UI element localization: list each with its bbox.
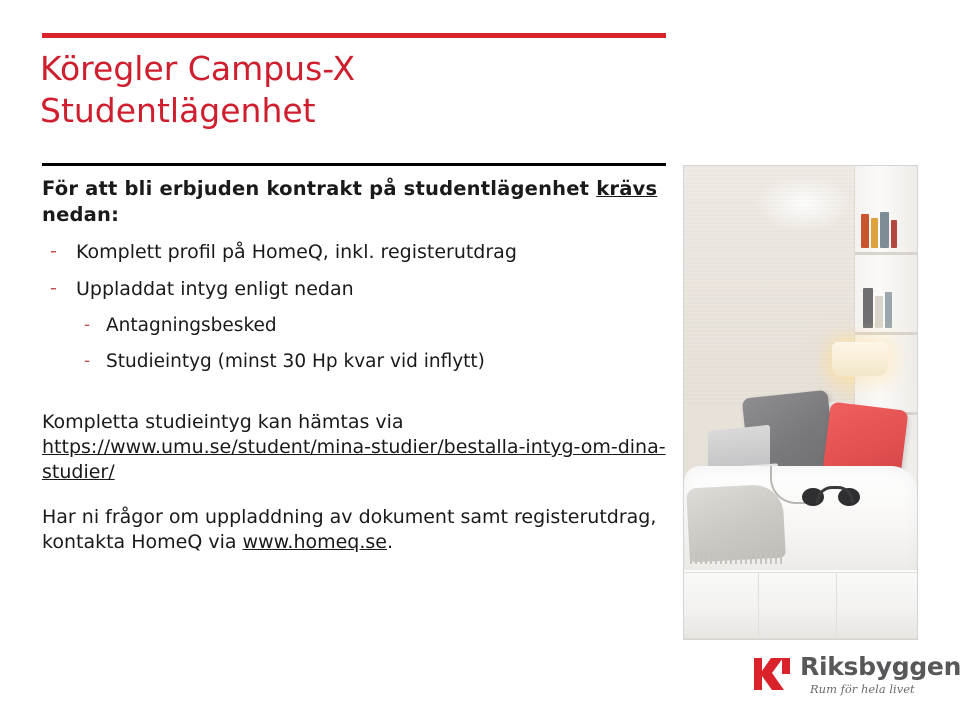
throw-fringe (690, 552, 782, 564)
umu-intyg-link[interactable]: https://www.umu.se/student/mina-studier/… (42, 436, 666, 483)
riksbyggen-mark-icon (752, 654, 792, 694)
bed-base-bench (684, 570, 917, 638)
kontakt-paragraph: Har ni frågor om uppladdning av dokument… (42, 505, 672, 555)
headphones-icon (802, 484, 860, 506)
studieintyg-paragraph: Kompletta studieintyg kan hämtas via htt… (42, 410, 672, 485)
lead-text-before: För att bli erbjuden kontrakt på student… (42, 177, 596, 200)
book (885, 292, 892, 328)
title-divider-rule (42, 163, 666, 166)
top-accent-rule (42, 33, 666, 38)
sub-requirements-list: - Antagningsbesked - Studieintyg (minst … (76, 314, 672, 374)
spacer (42, 374, 672, 410)
bench-edge (684, 572, 917, 573)
dash-bullet-icon: - (84, 349, 90, 373)
list-item-label: Komplett profil på HomeQ, inkl. register… (76, 241, 517, 263)
dash-bullet-icon: - (84, 313, 90, 337)
kontakt-text-after: . (387, 531, 393, 553)
lead-paragraph: För att bli erbjuden kontrakt på student… (42, 176, 672, 228)
book (861, 214, 869, 248)
list-item: - Studieintyg (minst 30 Hp kvar vid infl… (76, 350, 672, 374)
list-item: - Uppladdat intyg enligt nedan - Antagni… (42, 277, 672, 374)
page-title-line-1: Köregler Campus-X (40, 48, 680, 90)
lead-text-underlined: krävs (596, 177, 657, 200)
bench-panel-seam (758, 572, 759, 638)
page-title: Köregler Campus-X Studentlägenhet (40, 48, 680, 132)
list-item-label: Antagningsbesked (106, 315, 277, 336)
list-item: - Komplett profil på HomeQ, inkl. regist… (42, 240, 672, 265)
list-item: - Antagningsbesked (76, 314, 672, 338)
dash-bullet-icon: - (50, 239, 57, 264)
studieintyg-text: Kompletta studieintyg kan hämtas via (42, 411, 404, 433)
book (871, 218, 878, 248)
requirements-list: - Komplett profil på HomeQ, inkl. regist… (42, 240, 672, 374)
list-item-label: Studieintyg (minst 30 Hp kvar vid inflyt… (106, 351, 485, 372)
book (863, 288, 873, 328)
page-title-line-2: Studentlägenhet (40, 90, 680, 132)
book (875, 296, 883, 328)
lead-text-after: nedan: (42, 203, 119, 226)
shelf-board (855, 332, 917, 335)
dash-bullet-icon: - (50, 276, 57, 301)
slide: Köregler Campus-X Studentlägenhet För at… (0, 0, 960, 720)
apartment-photo (683, 165, 918, 640)
homeq-link[interactable]: www.homeq.se (243, 531, 387, 553)
book (880, 212, 889, 248)
spacer (42, 485, 672, 505)
riksbyggen-logo: Riksbyggen Rum för hela livet (752, 652, 932, 702)
book (891, 220, 897, 248)
shelf-board (855, 252, 917, 255)
list-item-label: Uppladdat intyg enligt nedan (76, 278, 354, 300)
reading-lamp (832, 342, 888, 376)
logo-wordmark: Riksbyggen (800, 652, 960, 681)
photo-scene (684, 166, 917, 639)
bench-panel-seam (836, 572, 837, 638)
content-body: För att bli erbjuden kontrakt på student… (42, 176, 672, 555)
knit-throw (686, 484, 786, 563)
logo-tagline: Rum för hela livet (810, 682, 915, 696)
